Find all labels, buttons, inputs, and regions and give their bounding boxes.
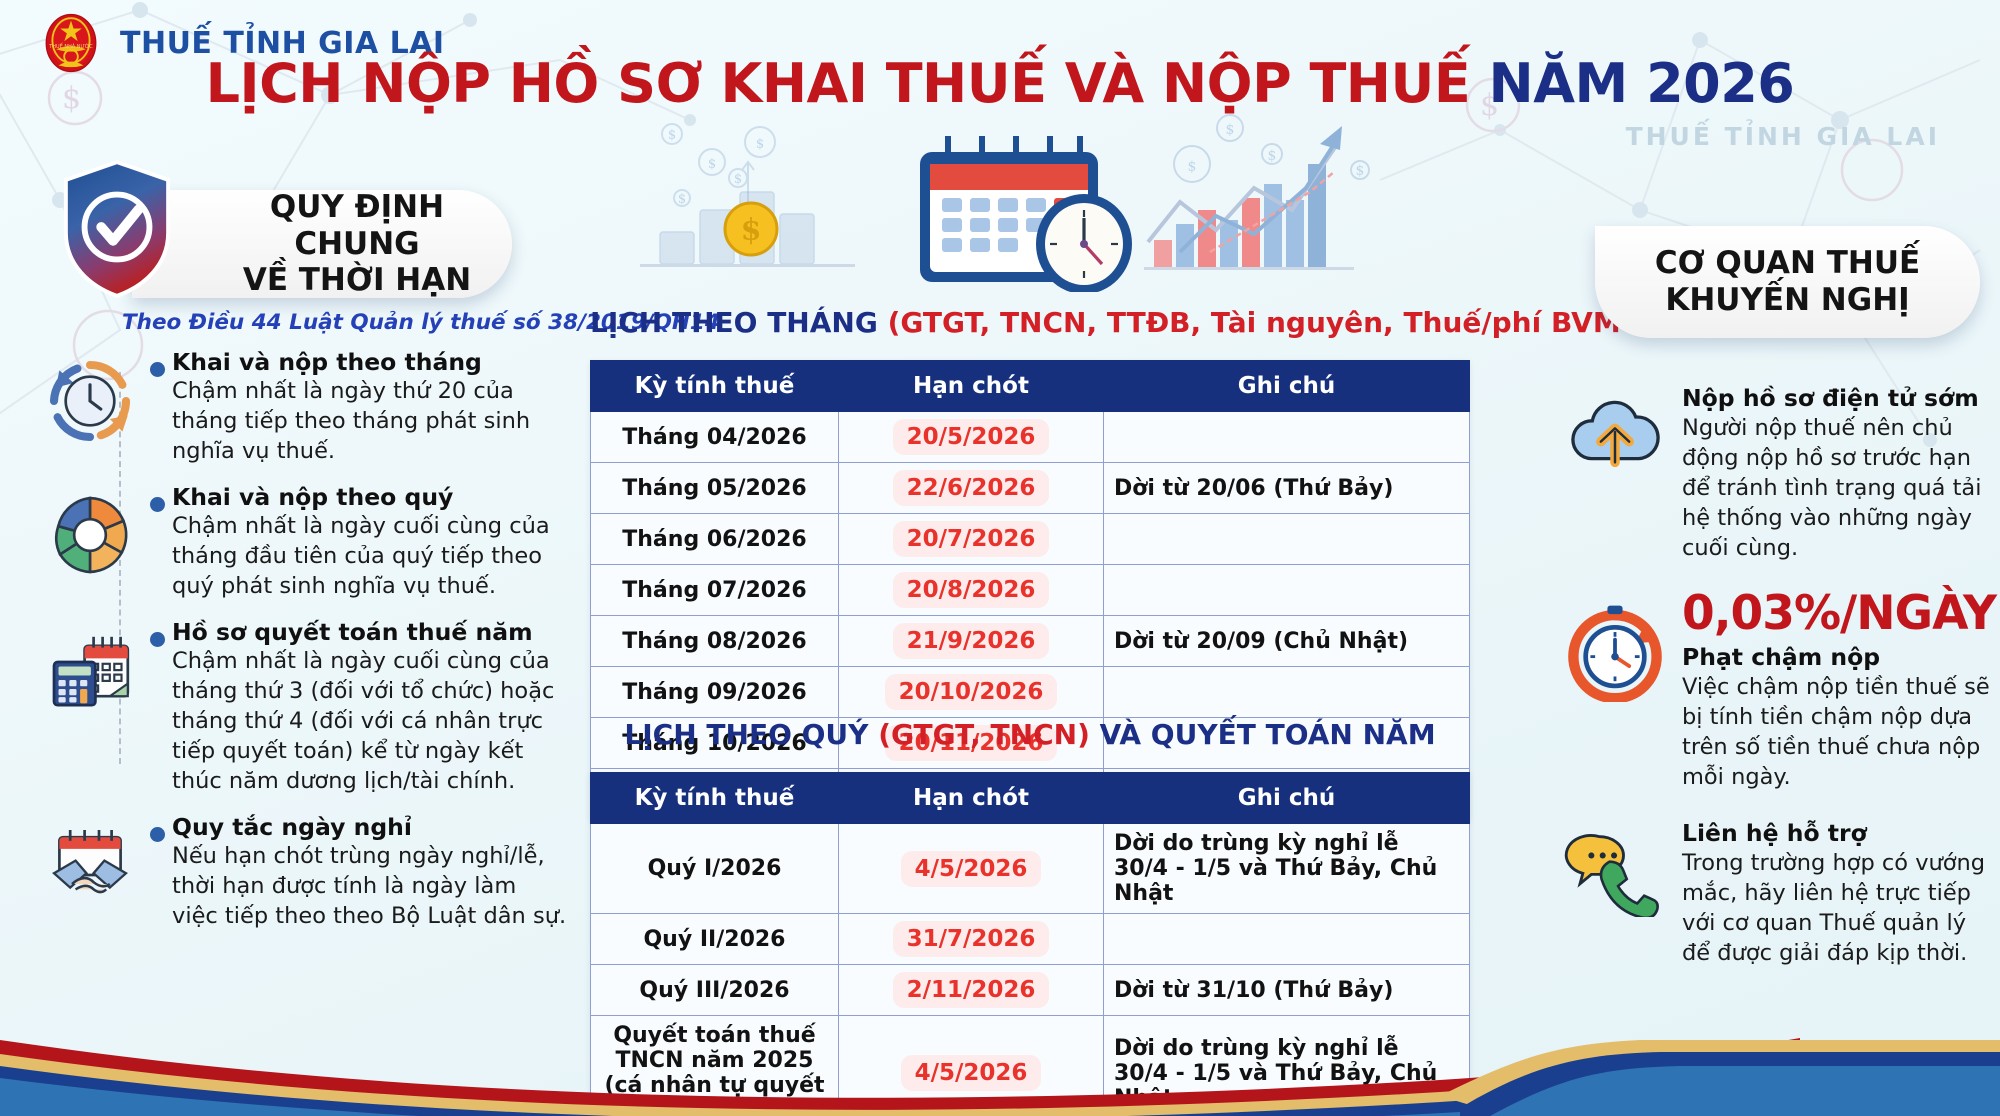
clock-illustration-icon bbox=[1036, 194, 1132, 292]
bottom-ribbon-decoration bbox=[0, 996, 2000, 1116]
cell-note bbox=[1104, 914, 1470, 965]
page-title-blue: NĂM 2026 bbox=[1489, 52, 1795, 115]
shield-check-icon bbox=[58, 158, 176, 300]
column-header-deadline: Hạn chót bbox=[839, 361, 1104, 412]
table-row: Tháng 06/202620/7/2026 bbox=[591, 514, 1470, 565]
deadline-badge: 22/6/2026 bbox=[893, 470, 1050, 506]
cell-period: Quý II/2026 bbox=[591, 914, 839, 965]
deadline-badge: 4/5/2026 bbox=[901, 851, 1042, 887]
cell-note: Dời do trùng kỳ nghỉ lễ 30/4 - 1/5 và Th… bbox=[1104, 824, 1470, 914]
list-item: Liên hệ hỗ trợ Trong trường hợp có vướng… bbox=[1560, 819, 2000, 969]
penalty-rate-value: 0,03%/NGÀY bbox=[1682, 590, 1996, 637]
svg-text:$: $ bbox=[734, 172, 742, 187]
right-pill-line2: KHUYẾN NGHỊ bbox=[1655, 282, 1920, 319]
cloud-upload-icon bbox=[1560, 384, 1670, 478]
svg-text:$: $ bbox=[1356, 163, 1365, 179]
recommendations-list: Nộp hồ sơ điện tử sớm Người nộp thuế nên… bbox=[1560, 384, 2000, 969]
page-title: LỊCH NỘP HỒ SƠ KHAI THUẾ VÀ NỘP THUẾ NĂM… bbox=[0, 52, 2000, 115]
cell-deadline: 4/5/2026 bbox=[839, 824, 1104, 914]
list-item-title: Liên hệ hỗ trợ bbox=[1682, 819, 1994, 847]
deadline-badge: 21/9/2026 bbox=[893, 623, 1050, 659]
watermark-text: THUẾ TỈNH GIA LAI bbox=[1626, 122, 1940, 151]
handshake-calendar-icon bbox=[38, 813, 142, 911]
list-item: Khai và nộp theo tháng Chậm nhất là ngày… bbox=[38, 348, 568, 467]
deadline-badge: 20/5/2026 bbox=[893, 419, 1050, 455]
monthly-title-sub: (GTGT, TNCN, TTĐB, Tài nguyên, Thuế/phí … bbox=[888, 306, 1653, 339]
deadline-badge: 20/7/2026 bbox=[893, 521, 1050, 557]
list-item: 0,03%/NGÀY Phạt chậm nộp Việc chậm nộp t… bbox=[1560, 590, 2000, 793]
table-row: Tháng 08/202621/9/2026Dời từ 20/09 (Chủ … bbox=[591, 616, 1470, 667]
cell-period: Tháng 05/2026 bbox=[591, 463, 839, 514]
cell-period: Tháng 07/2026 bbox=[591, 565, 839, 616]
cell-period: Tháng 08/2026 bbox=[591, 616, 839, 667]
bullet-marker bbox=[142, 483, 172, 512]
cell-note bbox=[1104, 514, 1470, 565]
phone-support-icon bbox=[1560, 819, 1670, 917]
bullet-marker bbox=[142, 618, 172, 647]
cell-note bbox=[1104, 565, 1470, 616]
list-item-body: Nếu hạn chót trùng ngày nghỉ/lễ, thời hạ… bbox=[172, 842, 568, 932]
monthly-section-title: LỊCH THEO THÁNG (GTGT, TNCN, TTĐB, Tài n… bbox=[590, 306, 1470, 339]
stopwatch-icon bbox=[1560, 590, 1670, 702]
cell-deadline: 20/7/2026 bbox=[839, 514, 1104, 565]
svg-text:$: $ bbox=[741, 213, 762, 248]
quarterly-title-a: LỊCH THEO QUÝ bbox=[624, 718, 878, 751]
monthly-schedule-table: Kỳ tính thuế Hạn chót Ghi chú Tháng 04/2… bbox=[590, 360, 1470, 820]
cell-note: Dời từ 20/09 (Chủ Nhật) bbox=[1104, 616, 1470, 667]
column-header-period: Kỳ tính thuế bbox=[591, 361, 839, 412]
svg-text:$: $ bbox=[1188, 159, 1197, 175]
list-item-title: Khai và nộp theo quý bbox=[172, 483, 568, 511]
quarterly-title-b: VÀ QUYẾT TOÁN NĂM bbox=[1090, 718, 1436, 751]
bullet-marker bbox=[142, 813, 172, 842]
clock-cycle-icon bbox=[38, 348, 142, 446]
cell-deadline: 22/6/2026 bbox=[839, 463, 1104, 514]
list-item-body: Chậm nhất là ngày cuối cùng của tháng th… bbox=[172, 647, 568, 797]
cell-deadline: 20/8/2026 bbox=[839, 565, 1104, 616]
table-row: Tháng 07/202620/8/2026 bbox=[591, 565, 1470, 616]
list-item-body: Chậm nhất là ngày thứ 20 của tháng tiếp … bbox=[172, 377, 568, 467]
cell-note: Dời từ 20/06 (Thứ Bảy) bbox=[1104, 463, 1470, 514]
svg-text:$: $ bbox=[1226, 122, 1235, 138]
page-title-red: LỊCH NỘP HỒ SƠ KHAI THUẾ VÀ NỘP THUẾ bbox=[206, 52, 1471, 115]
bullet-marker bbox=[142, 348, 172, 377]
left-section-pill: QUY ĐỊNH CHUNG VỀ THỜI HẠN bbox=[132, 190, 512, 298]
list-item-title: Quy tắc ngày nghỉ bbox=[172, 813, 568, 841]
cell-period: Tháng 04/2026 bbox=[591, 412, 839, 463]
cell-note bbox=[1104, 412, 1470, 463]
svg-text:$: $ bbox=[756, 137, 764, 152]
general-rules-list: Khai và nộp theo tháng Chậm nhất là ngày… bbox=[38, 348, 568, 932]
table-header-row: Kỳ tính thuế Hạn chót Ghi chú bbox=[591, 773, 1470, 824]
list-item: Nộp hồ sơ điện tử sớm Người nộp thuế nên… bbox=[1560, 384, 2000, 564]
table-row: Quý I/20264/5/2026Dời do trùng kỳ nghỉ l… bbox=[591, 824, 1470, 914]
table-row: Quý II/202631/7/2026 bbox=[591, 914, 1470, 965]
list-item-body: Người nộp thuế nên chủ động nộp hồ sơ tr… bbox=[1682, 414, 1994, 564]
table-row: Tháng 05/202622/6/2026Dời từ 20/06 (Thứ … bbox=[591, 463, 1470, 514]
deadline-badge: 31/7/2026 bbox=[893, 921, 1050, 957]
hero-illustration: $$ $$$ $ bbox=[620, 92, 1380, 292]
list-item-body: Việc chậm nộp tiền thuế sẽ bị tính tiền … bbox=[1682, 673, 1996, 793]
cell-deadline: 20/5/2026 bbox=[839, 412, 1104, 463]
list-item: Hồ sơ quyết toán thuế năm Chậm nhất là n… bbox=[38, 618, 568, 797]
column-header-note: Ghi chú bbox=[1104, 361, 1470, 412]
svg-text:$: $ bbox=[1268, 148, 1277, 164]
left-pill-line1: QUY ĐỊNH CHUNG bbox=[202, 189, 512, 262]
quarterly-section-title: LỊCH THEO QUÝ (GTGT, TNCN) VÀ QUYẾT TOÁN… bbox=[590, 718, 1470, 751]
list-item-title: Hồ sơ quyết toán thuế năm bbox=[172, 618, 568, 646]
cell-note bbox=[1104, 667, 1470, 718]
right-pill-line1: CƠ QUAN THUẾ bbox=[1655, 245, 1920, 282]
cell-deadline: 21/9/2026 bbox=[839, 616, 1104, 667]
right-section-pill: CƠ QUAN THUẾ KHUYẾN NGHỊ bbox=[1595, 226, 1980, 338]
column-header-deadline: Hạn chót bbox=[839, 773, 1104, 824]
law-reference-note: Theo Điều 44 Luật Quản lý thuế số 38/201… bbox=[122, 310, 542, 335]
column-header-period: Kỳ tính thuế bbox=[591, 773, 839, 824]
list-item: Quy tắc ngày nghỉ Nếu hạn chót trùng ngà… bbox=[38, 813, 568, 932]
table-row: Tháng 09/202620/10/2026 bbox=[591, 667, 1470, 718]
calculator-calendar-icon bbox=[38, 618, 142, 716]
cell-deadline: 31/7/2026 bbox=[839, 914, 1104, 965]
cell-period: Quý I/2026 bbox=[591, 824, 839, 914]
left-pill-line2: VỀ THỜI HẠN bbox=[202, 262, 512, 299]
cell-period: Tháng 06/2026 bbox=[591, 514, 839, 565]
list-item: Khai và nộp theo quý Chậm nhất là ngày c… bbox=[38, 483, 568, 602]
deadline-badge: 20/8/2026 bbox=[893, 572, 1050, 608]
table-header-row: Kỳ tính thuế Hạn chót Ghi chú bbox=[591, 361, 1470, 412]
list-item-body: Trong trường hợp có vướng mắc, hãy liên … bbox=[1682, 849, 1994, 969]
list-item-body: Chậm nhất là ngày cuối cùng của tháng đầ… bbox=[172, 512, 568, 602]
cell-period: Tháng 09/2026 bbox=[591, 667, 839, 718]
pie-chart-icon bbox=[38, 483, 142, 579]
svg-text:$: $ bbox=[668, 128, 676, 143]
svg-text:$: $ bbox=[678, 192, 686, 207]
table-row: Tháng 04/202620/5/2026 bbox=[591, 412, 1470, 463]
deadline-badge: 20/10/2026 bbox=[885, 674, 1058, 710]
list-item-title: Nộp hồ sơ điện tử sớm bbox=[1682, 384, 1994, 412]
quarterly-title-sub: (GTGT, TNCN) bbox=[878, 718, 1090, 751]
list-item-title: Khai và nộp theo tháng bbox=[172, 348, 568, 376]
column-header-note: Ghi chú bbox=[1104, 773, 1470, 824]
cell-deadline: 20/10/2026 bbox=[839, 667, 1104, 718]
infographic-page: $ $ THUẾ NHÀ NƯỚC THUẾ TỈNH GIA LAI THUẾ… bbox=[0, 0, 2000, 1116]
list-item-title: Phạt chậm nộp bbox=[1682, 643, 1996, 671]
svg-text:$: $ bbox=[708, 157, 716, 172]
monthly-title-main: LỊCH THEO THÁNG bbox=[590, 306, 888, 339]
